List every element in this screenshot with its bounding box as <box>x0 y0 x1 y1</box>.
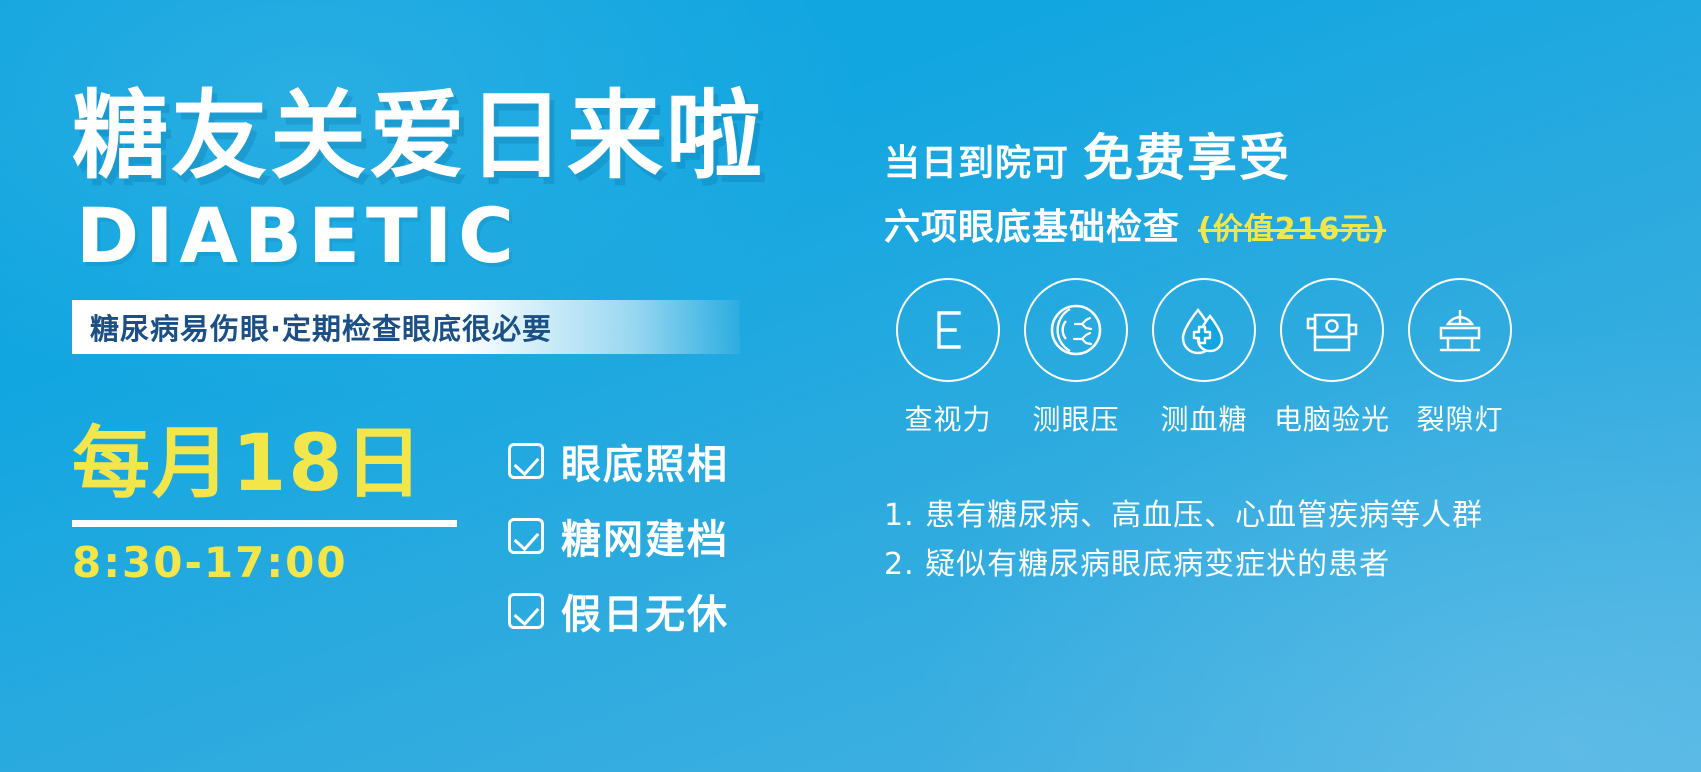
note-line: 1. 患有糖尿病、高血压、心血管疾病等人群 <box>884 492 1483 541</box>
schedule-and-checklist: 每月18日 8:30-17:00 眼底照相 糖网建档 假日无休 <box>72 424 729 640</box>
service-item-eye-pressure: 测眼压 <box>1012 278 1140 438</box>
blood-drop-cross-icon <box>1152 278 1256 382</box>
promo-second-text: 六项眼底基础检查 <box>884 198 1180 250</box>
service-label: 电脑验光 <box>1274 398 1390 438</box>
service-item-visual-acuity: 查视力 <box>884 278 1012 438</box>
checkbox-checked-icon <box>508 443 544 479</box>
checkbox-checked-icon <box>508 593 544 629</box>
checkbox-checked-icon <box>508 518 544 554</box>
service-item-slit-lamp: 裂隙灯 <box>1396 278 1524 438</box>
promo-banner: 糖友关爱日来啦 DIABETIC 糖尿病易伤眼·定期检查眼底很必要 每月18日 … <box>0 0 1701 772</box>
subtitle-banner: 糖尿病易伤眼·定期检查眼底很必要 <box>72 300 740 354</box>
autorefractor-device-icon <box>1280 278 1384 382</box>
benefits-checklist: 眼底照相 糖网建档 假日无休 <box>508 424 729 640</box>
subtitle-text: 糖尿病易伤眼·定期检查眼底很必要 <box>90 306 552 348</box>
date-block: 每月18日 8:30-17:00 <box>72 424 472 587</box>
checklist-label: 眼底照相 <box>561 432 729 490</box>
list-item: 糖网建档 <box>508 507 729 565</box>
note-line: 2. 疑似有糖尿病眼底病变症状的患者 <box>884 541 1483 590</box>
right-content-column: 当日到院可 免费享受 六项眼底基础检查 (价值216元) <box>884 118 1644 250</box>
checklist-label: 糖网建档 <box>561 507 729 565</box>
page-title-english: DIABETIC <box>76 198 832 274</box>
promo-prefix-text: 当日到院可 <box>884 134 1069 186</box>
promo-subheadline-row: 六项眼底基础检查 (价值216元) <box>884 198 1644 250</box>
event-date: 每月18日 <box>72 424 472 506</box>
event-hours: 8:30-17:00 <box>72 538 472 587</box>
eyeball-vessels-icon <box>1024 278 1128 382</box>
service-item-computer-optometry: 电脑验光 <box>1268 278 1396 438</box>
eligibility-notes: 1. 患有糖尿病、高血压、心血管疾病等人群 2. 疑似有糖尿病眼底病变症状的患者 <box>884 492 1483 589</box>
service-item-blood-glucose: 测血糖 <box>1140 278 1268 438</box>
page-title: 糖友关爱日来啦 <box>72 88 832 184</box>
service-label: 测血糖 <box>1160 398 1247 438</box>
service-label: 查视力 <box>904 398 991 438</box>
promo-headline-row: 当日到院可 免费享受 <box>884 118 1644 190</box>
divider-rule <box>72 520 457 527</box>
checklist-label: 假日无休 <box>561 582 729 640</box>
promo-original-value: (价值216元) <box>1198 204 1386 248</box>
promo-highlight-text: 免费享受 <box>1083 118 1291 190</box>
left-content-column: 糖友关爱日来啦 DIABETIC 糖尿病易伤眼·定期检查眼底很必要 <box>72 88 832 354</box>
slit-lamp-icon <box>1408 278 1512 382</box>
eye-chart-e-icon <box>896 278 1000 382</box>
list-item: 假日无休 <box>508 582 729 640</box>
service-icon-row: 查视力 测眼压 测血糖 <box>884 278 1524 438</box>
list-item: 眼底照相 <box>508 432 729 490</box>
service-label: 测眼压 <box>1032 398 1119 438</box>
service-label: 裂隙灯 <box>1416 398 1503 438</box>
